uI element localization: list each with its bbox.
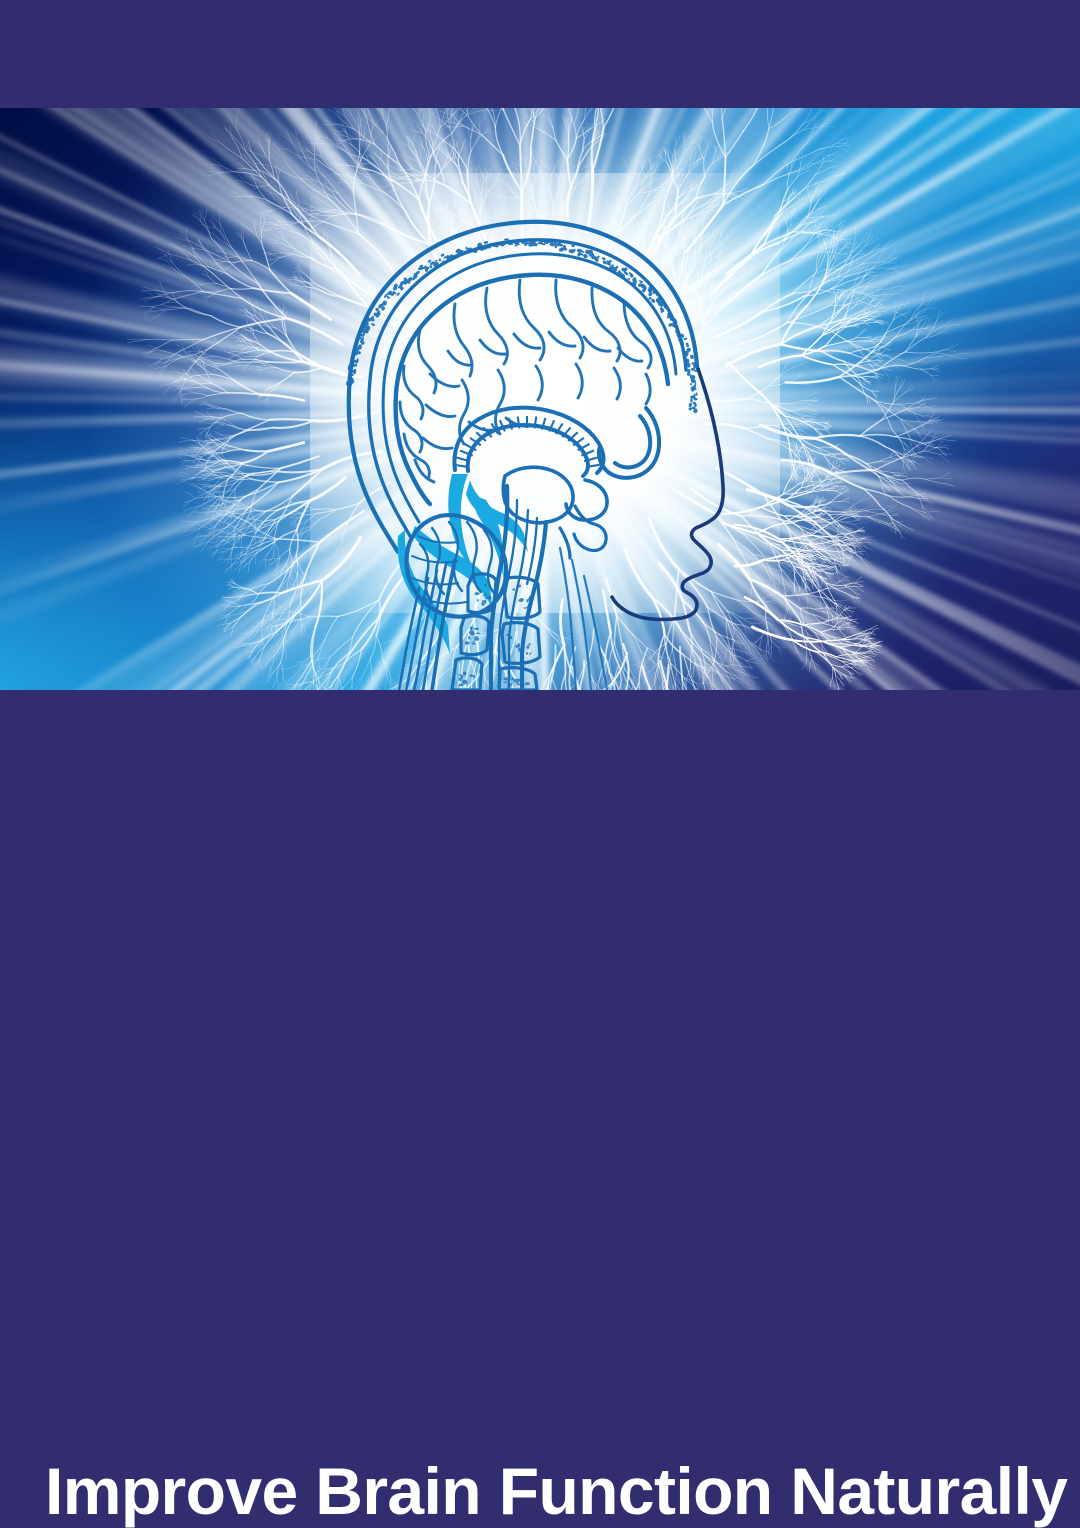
- page-title: Improve Brain Function Naturally: [45, 1456, 1055, 1526]
- hero-image: [0, 108, 1080, 690]
- temporal-lobe: [599, 408, 659, 478]
- neck-striations: [560, 548, 607, 690]
- poster-canvas: Improve Brain Function Naturally: [0, 0, 1080, 1080]
- facial-profile: [612, 366, 723, 619]
- head-brain-illustration: [0, 108, 1080, 690]
- skull: [349, 222, 697, 552]
- top-color-band: [0, 0, 1080, 108]
- thalamus: [503, 467, 607, 523]
- title-band: Improve Brain Function Naturally: [0, 690, 1080, 1080]
